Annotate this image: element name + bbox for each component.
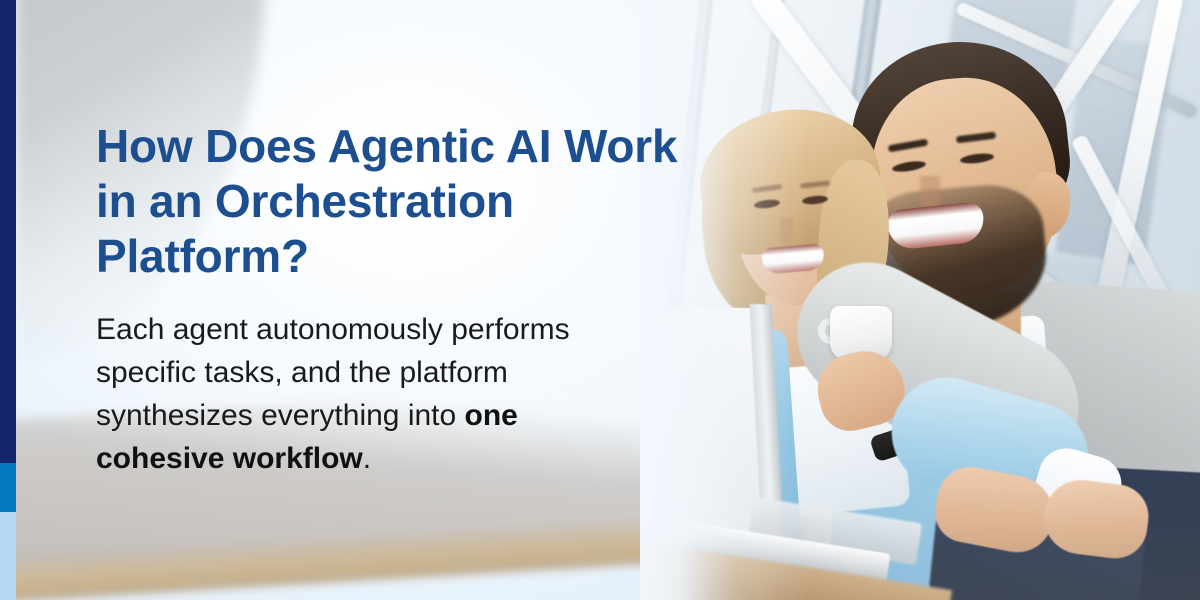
promo-banner: How Does Agentic AI Work in an Orchestra… xyxy=(0,0,1200,600)
accent-segment-navy xyxy=(0,0,16,463)
accent-segment-light-blue xyxy=(0,512,16,600)
woman-nose xyxy=(780,218,793,244)
hero-photo xyxy=(640,0,1200,600)
subtitle-text: Each agent autonomously performs specifi… xyxy=(96,309,596,481)
accent-segment-blue xyxy=(0,463,16,512)
page-title: How Does Agentic AI Work in an Orchestra… xyxy=(96,119,696,283)
text-block: How Does Agentic AI Work in an Orchestra… xyxy=(96,0,716,600)
left-accent-bar xyxy=(0,0,16,600)
subtitle-suffix: . xyxy=(363,442,371,475)
